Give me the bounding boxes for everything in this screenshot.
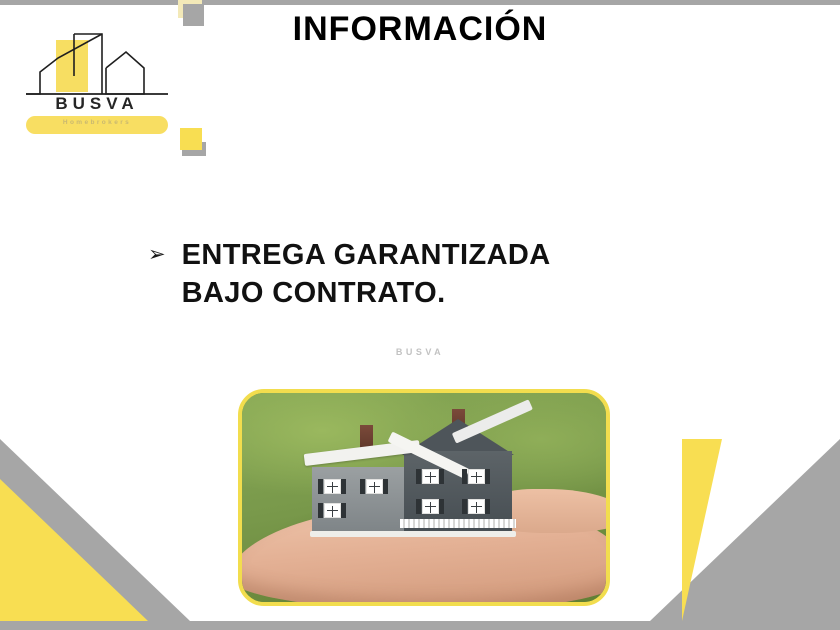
house-wing-left [312, 467, 408, 533]
shutter [416, 499, 421, 514]
shutter [318, 479, 323, 494]
logo-tagline: Homebrokers [26, 119, 168, 126]
shutter [462, 499, 467, 514]
house-photo-frame [238, 389, 610, 606]
decor-square-mid-yellow [180, 128, 202, 150]
bullet-arrow-icon: ➢ [148, 236, 166, 272]
shutter [341, 479, 346, 494]
window [324, 479, 341, 494]
window [366, 479, 383, 494]
bottom-edge-rule [0, 621, 840, 630]
shutter [485, 499, 490, 514]
shutter [383, 479, 388, 494]
window [422, 469, 439, 484]
bullet-text: ENTREGA GARANTIZADA BAJO CONTRATO. [182, 236, 551, 312]
bullet-item: ➢ ENTREGA GARANTIZADA BAJO CONTRATO. [148, 236, 551, 312]
corner-decor-bottom-right-yellow [682, 439, 722, 621]
shutter [318, 503, 323, 518]
slide: BUSVA Homebrokers INFORMACIÓN ➢ ENTREGA … [0, 0, 840, 630]
window [468, 499, 485, 514]
window [324, 503, 341, 518]
porch-railing [400, 519, 516, 528]
shutter [462, 469, 467, 484]
shutter [341, 503, 346, 518]
house-base [310, 531, 516, 537]
shutter [360, 479, 365, 494]
logo-wordmark: BUSVA [22, 94, 172, 114]
shutter [485, 469, 490, 484]
window [422, 499, 439, 514]
top-edge-rule [0, 0, 840, 5]
slide-title: INFORMACIÓN [0, 10, 840, 49]
shutter [416, 469, 421, 484]
watermark-text: BUSVA [0, 347, 840, 357]
window [468, 469, 485, 484]
house-model-icon [304, 407, 534, 537]
corner-decor-bottom-left-yellow [0, 479, 148, 621]
house-photo [242, 393, 606, 602]
corner-decor-bottom-right-gray [650, 439, 840, 621]
shutter [439, 499, 444, 514]
shutter [439, 469, 444, 484]
